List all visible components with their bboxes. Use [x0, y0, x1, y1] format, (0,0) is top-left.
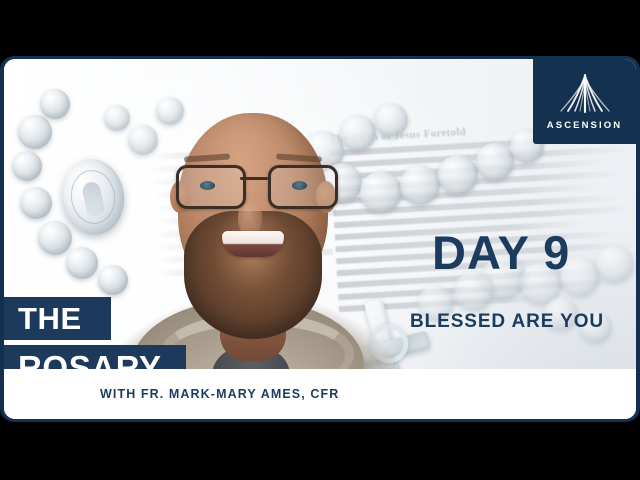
ascension-rays-icon — [554, 72, 616, 116]
rosary-bead — [38, 221, 72, 255]
rosary-bead — [596, 245, 634, 283]
series-title-line-1: THE — [4, 297, 111, 340]
thumbnail-content: The Birth of Jesus Foretold — [4, 59, 636, 419]
rosary-bead — [476, 143, 514, 181]
thumbnail-frame: The Birth of Jesus Foretold — [0, 56, 640, 422]
brand-name: ASCENSION — [547, 120, 622, 131]
letterbox-top — [0, 0, 640, 56]
letterbox-bottom — [0, 422, 640, 480]
ascension-logo-panel: ASCENSION — [533, 59, 636, 144]
rosary-bead — [66, 247, 98, 279]
host-credit-text: WITH FR. MARK-MARY AMES, CFR — [100, 387, 339, 401]
rosary-bead — [438, 155, 478, 195]
episode-day-label: DAY 9 — [432, 225, 570, 280]
eyeglasses-icon — [174, 165, 334, 205]
host-credit-band: WITH FR. MARK-MARY AMES, CFR — [4, 369, 636, 419]
episode-subtitle: BLESSED ARE YOU — [410, 311, 604, 333]
rosary-bead — [40, 89, 70, 119]
rosary-bead — [12, 151, 42, 181]
video-thumbnail-stage: The Birth of Jesus Foretold — [0, 0, 640, 480]
rosary-bead — [18, 115, 52, 149]
rosary-bead — [400, 165, 440, 205]
rosary-bead — [20, 187, 52, 219]
